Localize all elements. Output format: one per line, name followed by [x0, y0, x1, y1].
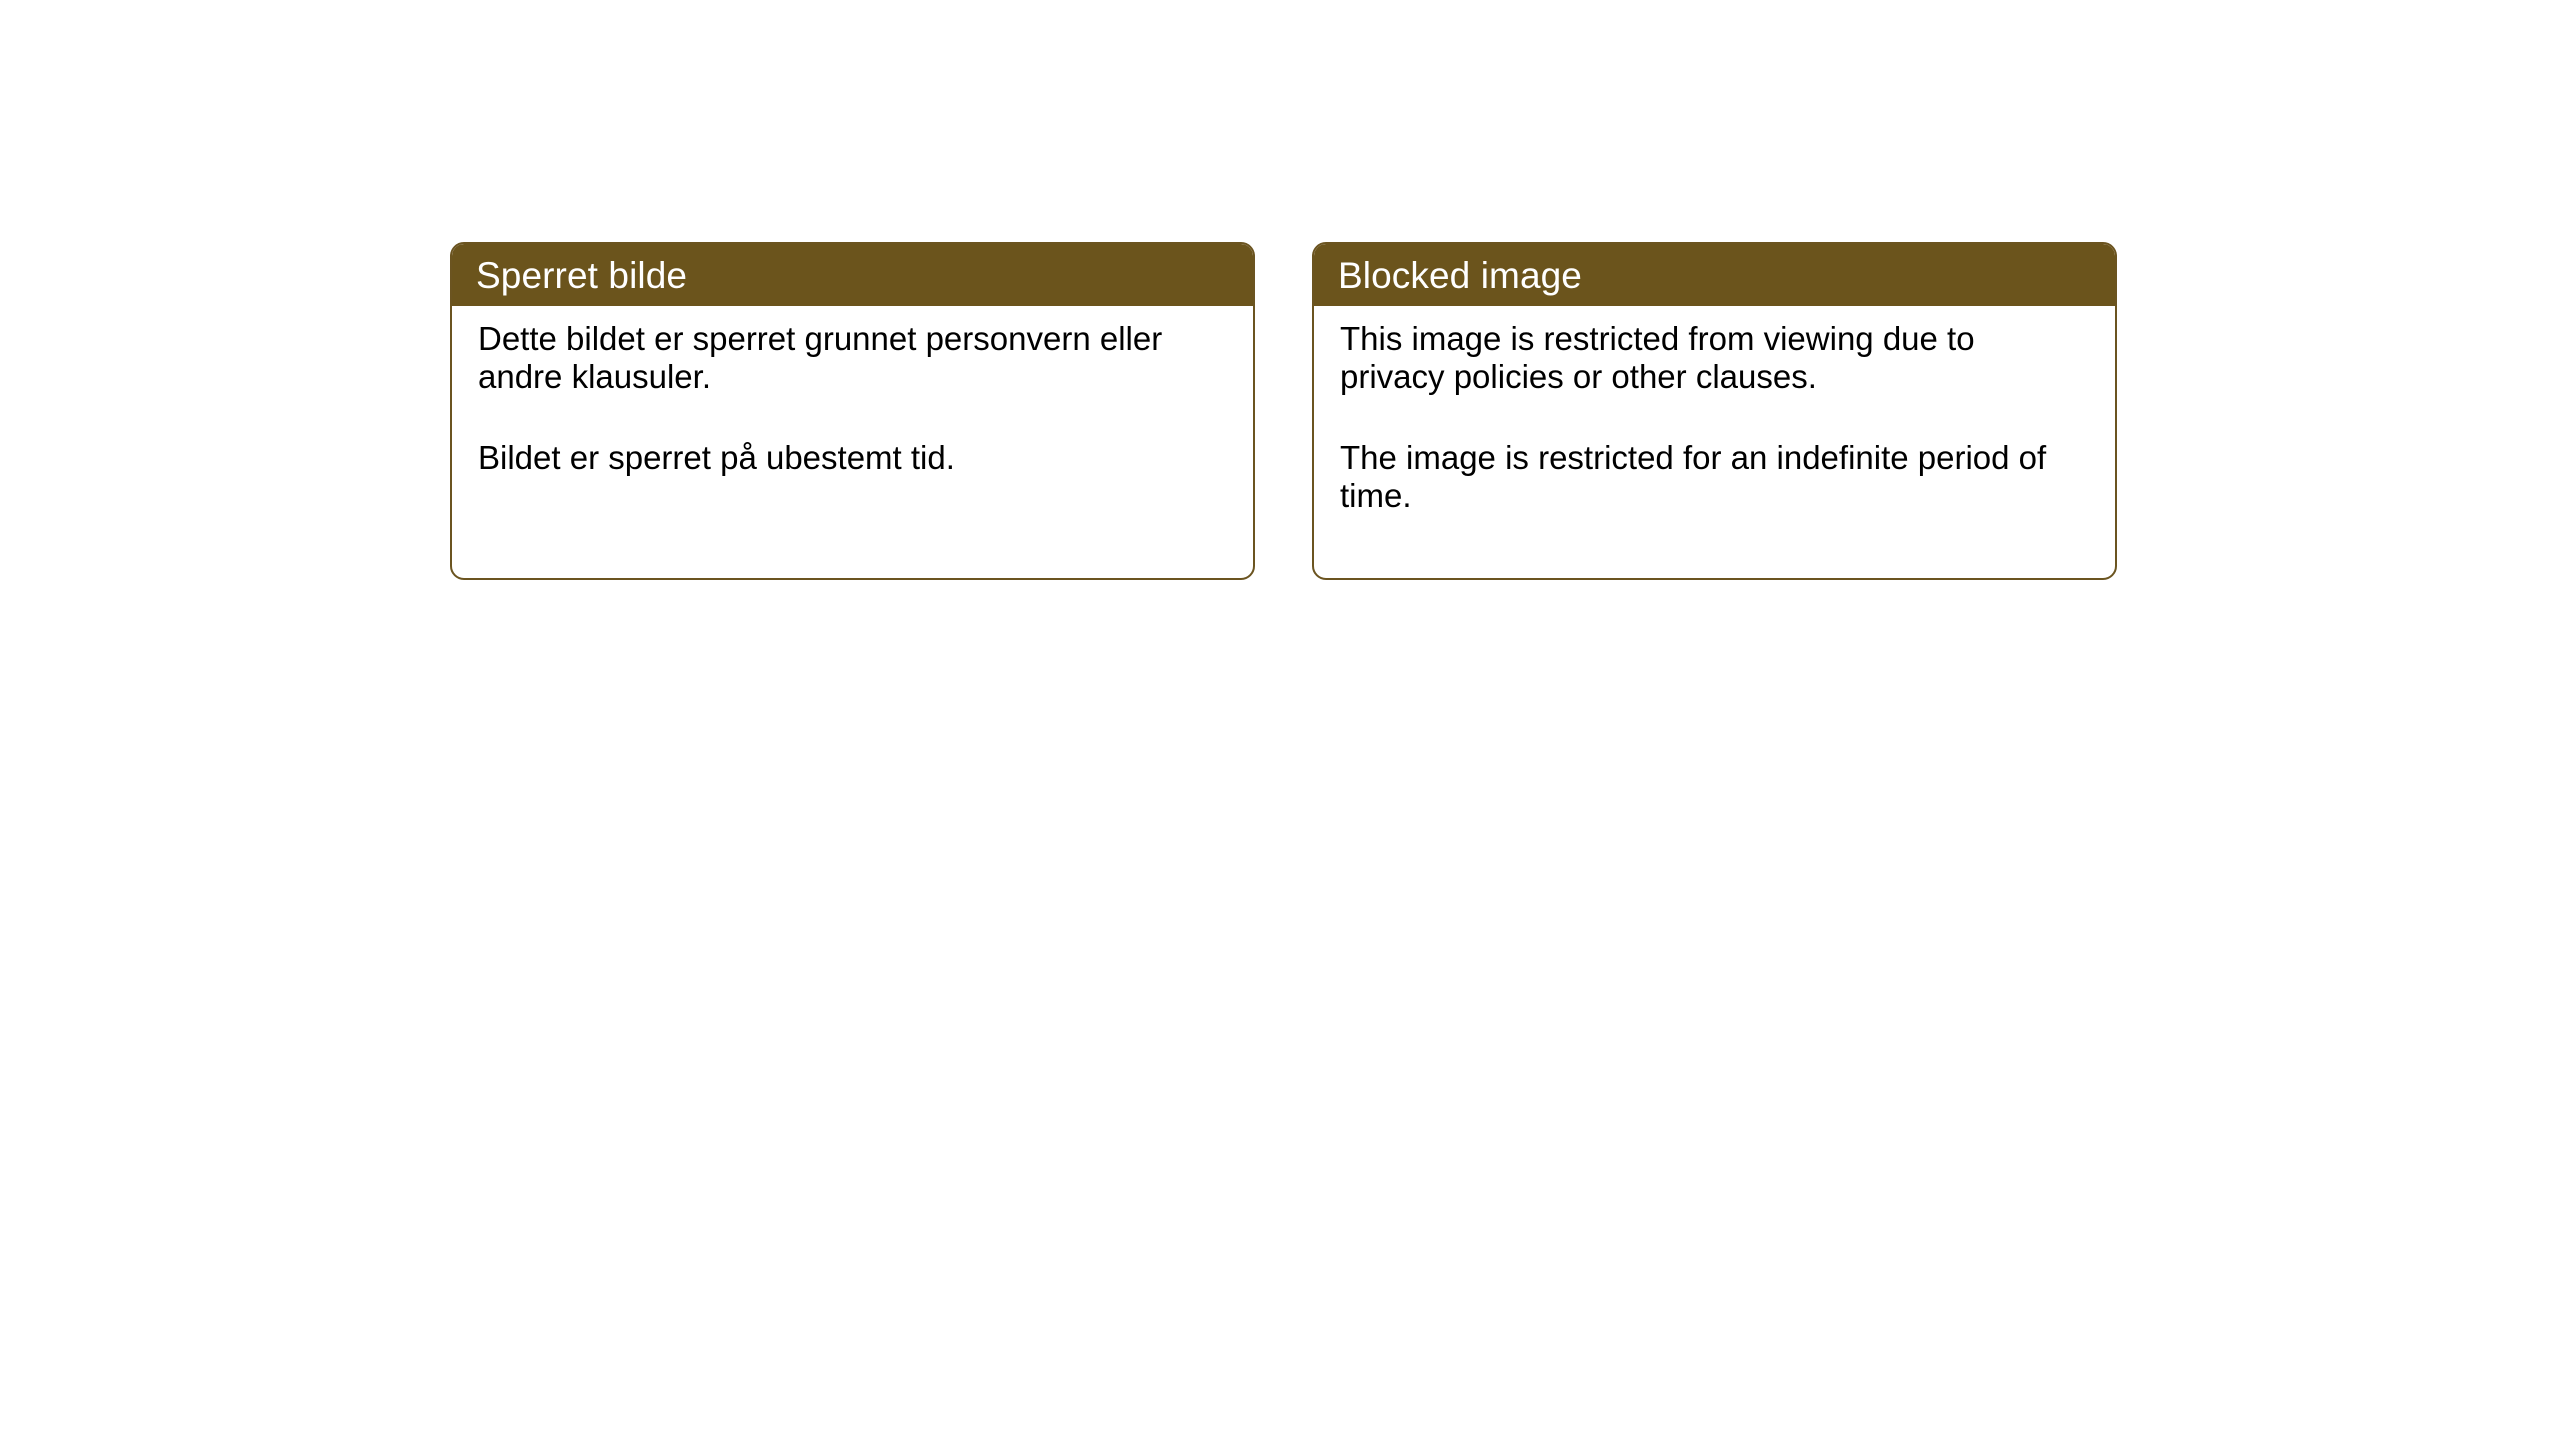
card-title-norwegian: Sperret bilde	[476, 257, 687, 294]
card-body-english: This image is restricted from viewing du…	[1314, 306, 2115, 515]
card-header-english: Blocked image	[1314, 244, 2115, 306]
card-paragraph-reason-norwegian: Dette bildet er sperret grunnet personve…	[478, 320, 1198, 397]
blocked-image-notice-norwegian: Sperret bilde Dette bildet er sperret gr…	[450, 242, 1255, 580]
blocked-image-notice-english: Blocked image This image is restricted f…	[1312, 242, 2117, 580]
card-paragraph-duration-norwegian: Bildet er sperret på ubestemt tid.	[478, 439, 1198, 477]
card-body-norwegian: Dette bildet er sperret grunnet personve…	[452, 306, 1253, 477]
page-root: Sperret bilde Dette bildet er sperret gr…	[0, 0, 2560, 1440]
card-paragraph-reason-english: This image is restricted from viewing du…	[1340, 320, 2060, 397]
card-header-norwegian: Sperret bilde	[452, 244, 1253, 306]
card-paragraph-duration-english: The image is restricted for an indefinit…	[1340, 439, 2060, 516]
card-title-english: Blocked image	[1338, 257, 1582, 294]
